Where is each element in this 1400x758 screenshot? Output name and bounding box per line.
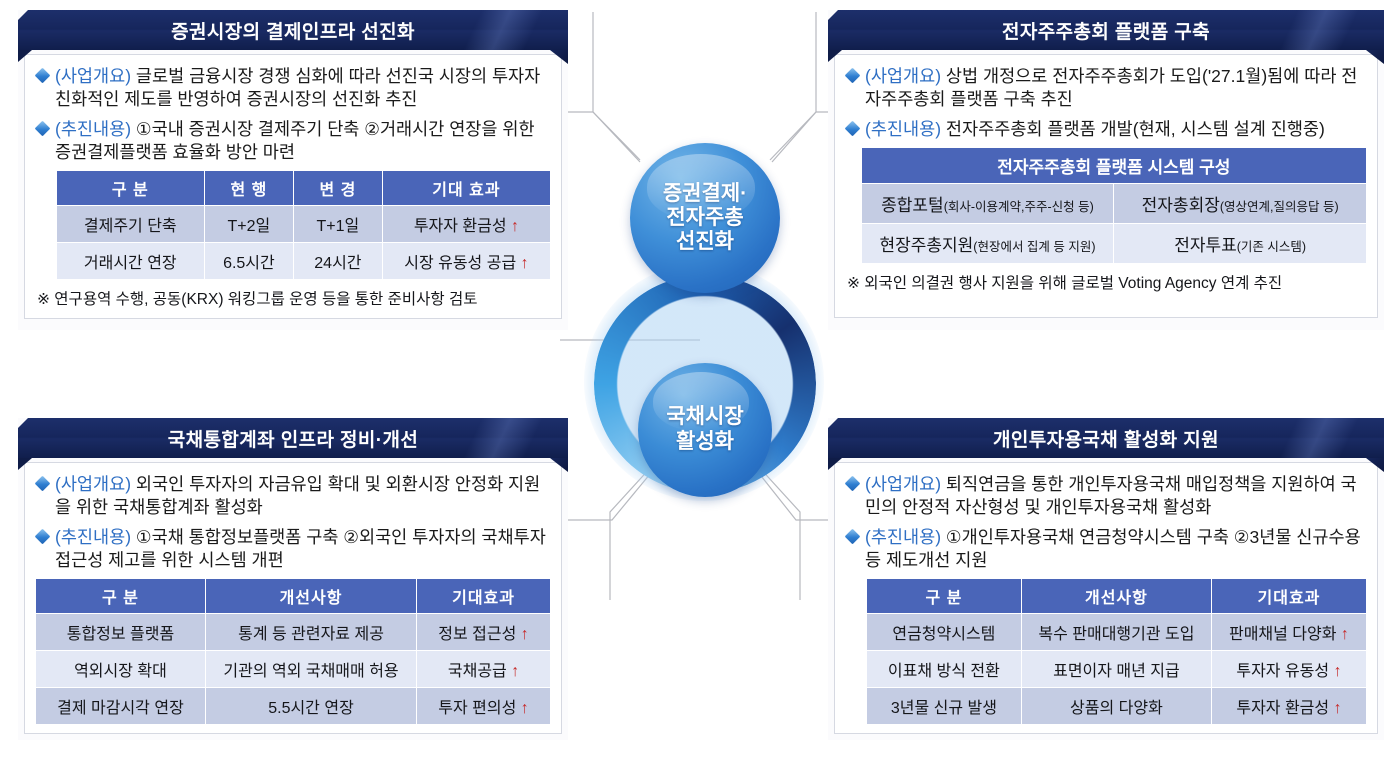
table-cell: 정보 접근성 ↑ <box>417 614 551 651</box>
table-row: 거래시간 연장 6.5시간 24시간 시장 유동성 공급 ↑ <box>56 243 550 280</box>
panel-government-bond-account: 국채통합계좌 인프라 정비·개선 (사업개요) 외국인 투자자의 자금유입 확대… <box>18 418 568 740</box>
table-cell: 현장주총지원(현장에서 집계 등 지원) <box>861 223 1114 263</box>
bullet-text: (추진내용) ①개인투자용국채 연금청약시스템 구축 ②3년물 신규수용 등 제… <box>865 526 1367 573</box>
table-cell: 종합포털(회사-이용계약,주주-신청 등) <box>861 183 1114 223</box>
bullet-label: (사업개요) <box>55 66 131 86</box>
up-arrow-icon: ↑ <box>1334 700 1342 717</box>
circle-line-2: 활성화 <box>676 430 734 455</box>
bullet-overview: (사업개요) 퇴직연금을 통한 개인투자용국채 매입정책을 지원하여 국민의 안… <box>845 473 1367 520</box>
cell-sub: (기존 시스템) <box>1237 240 1306 254</box>
table-col-header: 구 분 <box>866 579 1021 614</box>
table-cell: 결제 마감시각 연장 <box>36 688 206 725</box>
table-row: 종합포털(회사-이용계약,주주-신청 등) 전자총회장(영상연계,질의응답 등) <box>861 183 1366 223</box>
diamond-bullet-icon <box>845 68 861 84</box>
bullet-plan: (추진내용) ①개인투자용국채 연금청약시스템 구축 ②3년물 신규수용 등 제… <box>845 526 1367 573</box>
cell-main: 종합포털 <box>881 196 944 215</box>
panel-electronic-shareholder-meeting: 전자주주총회 플랫폼 구축 (사업개요) 상법 개정으로 전자주주총회가 도입(… <box>828 10 1384 330</box>
up-arrow-icon: ↑ <box>521 626 529 643</box>
table-cell: 투자자 환금성 ↑ <box>1211 688 1366 725</box>
diagram-canvas: 증권결제· 전자주총 선진화 국채시장 활성화 증권시장의 결제인프라 선진화 … <box>0 0 1400 758</box>
panel-header: 증권시장의 결제인프라 선진화 <box>18 10 568 50</box>
bullet-text: (사업개요) 외국인 투자자의 자금유입 확대 및 외환시장 안정화 지원을 위… <box>55 473 551 520</box>
table-col-header: 변 경 <box>293 171 382 206</box>
table-cell: 시장 유동성 공급 ↑ <box>382 243 550 280</box>
table-cell: 전자투표(기존 시스템) <box>1114 223 1367 263</box>
panel-note: ※ 연구용역 수행, 공동(KRX) 워킹그룹 운영 등을 통한 준비사항 검토 <box>35 286 551 310</box>
table-col-header: 현 행 <box>204 171 293 206</box>
bullet-text: (사업개요) 상법 개정으로 전자주주총회가 도입('27.1월)됨에 따라 전… <box>865 65 1367 112</box>
bullet-label: (사업개요) <box>865 474 941 494</box>
bullet-label: (사업개요) <box>55 474 131 494</box>
table-row: 연금청약시스템 복수 판매대행기관 도입 판매채널 다양화 ↑ <box>866 614 1366 651</box>
up-arrow-icon: ↑ <box>511 663 519 680</box>
table-col-header: 기대효과 <box>417 579 551 614</box>
circle-line-2: 전자주총 <box>666 206 743 230</box>
panel-title: 증권시장의 결제인프라 선진화 <box>171 17 415 44</box>
bullet-text: (추진내용) 전자주주총회 플랫폼 개발(현재, 시스템 설계 진행중) <box>865 118 1367 141</box>
table-cell: 표면이자 매년 지급 <box>1021 651 1211 688</box>
bullet-overview: (사업개요) 상법 개정으로 전자주주총회가 도입('27.1월)됨에 따라 전… <box>845 65 1367 112</box>
center-graphic: 증권결제· 전자주총 선진화 국채시장 활성화 <box>592 135 817 505</box>
circle-line-1: 국채시장 <box>666 405 743 430</box>
table-col-header: 개선사항 <box>1021 579 1211 614</box>
panel-title: 전자주주총회 플랫폼 구축 <box>1002 17 1210 44</box>
cell-sub: (현장에서 집계 등 지원) <box>973 240 1095 254</box>
bullet-label: (추진내용) <box>865 527 941 547</box>
bullet-text: (사업개요) 퇴직연금을 통한 개인투자용국채 매입정책을 지원하여 국민의 안… <box>865 473 1367 520</box>
table-cell: 거래시간 연장 <box>56 243 204 280</box>
panel-title: 국채통합계좌 인프라 정비·개선 <box>168 425 419 452</box>
table-row: 결제 마감시각 연장 5.5시간 연장 투자 편의성 ↑ <box>36 688 551 725</box>
table-col-header: 기대효과 <box>1211 579 1366 614</box>
table-row: 현장주총지원(현장에서 집계 등 지원) 전자투표(기존 시스템) <box>861 223 1366 263</box>
diamond-bullet-icon <box>845 476 861 492</box>
diamond-bullet-icon <box>845 120 861 136</box>
panel-individual-investor-bond: 개인투자용국채 활성화 지원 (사업개요) 퇴직연금을 통한 개인투자용국채 매… <box>828 418 1384 740</box>
table-cell: 투자 편의성 ↑ <box>417 688 551 725</box>
header-sheen <box>1234 10 1384 50</box>
table-cell: T+2일 <box>204 206 293 243</box>
diamond-bullet-icon <box>845 528 861 544</box>
panel-title: 개인투자용국채 활성화 지원 <box>993 425 1219 452</box>
table-cell: 통계 등 관련자료 제공 <box>205 614 416 651</box>
bullet-overview: (사업개요) 외국인 투자자의 자금유입 확대 및 외환시장 안정화 지원을 위… <box>35 473 551 520</box>
table-row: 통합정보 플랫폼 통계 등 관련자료 제공 정보 접근성 ↑ <box>36 614 551 651</box>
table-header-row: 구 분 개선사항 기대효과 <box>866 579 1366 614</box>
diamond-bullet-icon <box>35 528 51 544</box>
circle-line-1: 증권결제· <box>663 182 747 206</box>
cell-main: 전자총회장 <box>1142 196 1220 215</box>
table-col-header: 전자주주총회 플랫폼 시스템 구성 <box>861 147 1366 183</box>
bullet-overview: (사업개요) 글로벌 금융시장 경쟁 심화에 따라 선진국 시장의 투자자 친화… <box>35 65 551 112</box>
improvement-table: 구 분 개선사항 기대효과 통합정보 플랫폼 통계 등 관련자료 제공 정보 접… <box>35 578 551 725</box>
up-arrow-icon: ↑ <box>521 700 529 717</box>
circle-bond-market: 국채시장 활성화 <box>638 363 772 497</box>
table-col-header: 기대 효과 <box>382 171 550 206</box>
table-header-row: 구 분 개선사항 기대효과 <box>36 579 551 614</box>
diamond-bullet-icon <box>35 68 51 84</box>
table-header-row: 구 분 현 행 변 경 기대 효과 <box>56 171 550 206</box>
cell-sub: (회사-이용계약,주주-신청 등) <box>944 200 1094 214</box>
table-cell: 상품의 다양화 <box>1021 688 1211 725</box>
up-arrow-icon: ↑ <box>1341 626 1349 643</box>
panel-header: 전자주주총회 플랫폼 구축 <box>828 10 1384 50</box>
diamond-bullet-icon <box>35 120 51 136</box>
table-col-header: 구 분 <box>56 171 204 206</box>
cell-sub: (영상연계,질의응답 등) <box>1220 200 1339 214</box>
table-cell: 전자총회장(영상연계,질의응답 등) <box>1114 183 1367 223</box>
table-col-header: 구 분 <box>36 579 206 614</box>
bullet-plan: (추진내용) ①국내 증권시장 결제주기 단축 ②거래시간 연장을 위한 증권결… <box>35 118 551 165</box>
header-sheen <box>1234 418 1384 458</box>
panel-body: (사업개요) 퇴직연금을 통한 개인투자용국채 매입정책을 지원하여 국민의 안… <box>834 462 1378 734</box>
improvement-table: 구 분 개선사항 기대효과 연금청약시스템 복수 판매대행기관 도입 판매채널 … <box>866 578 1367 725</box>
up-arrow-icon: ↑ <box>521 255 529 272</box>
bullet-label: (추진내용) <box>865 119 941 139</box>
table-cell: 기관의 역외 국채매매 허용 <box>205 651 416 688</box>
bullet-plan: (추진내용) ①국채 통합정보플랫폼 구축 ②외국인 투자자의 국채투자 접근성… <box>35 526 551 573</box>
circle-line-3: 선진화 <box>676 230 734 254</box>
table-cell: 국채공급 ↑ <box>417 651 551 688</box>
bullet-plan: (추진내용) 전자주주총회 플랫폼 개발(현재, 시스템 설계 진행중) <box>845 118 1367 141</box>
panel-body: (사업개요) 글로벌 금융시장 경쟁 심화에 따라 선진국 시장의 투자자 친화… <box>24 54 562 319</box>
table-cell: 투자자 환금성 ↑ <box>382 206 550 243</box>
up-arrow-icon: ↑ <box>511 218 519 235</box>
table-cell: 투자자 유동성 ↑ <box>1211 651 1366 688</box>
table-cell: 판매채널 다양화 ↑ <box>1211 614 1366 651</box>
bullet-text: (추진내용) ①국채 통합정보플랫폼 구축 ②외국인 투자자의 국채투자 접근성… <box>55 526 551 573</box>
bullet-text: (사업개요) 글로벌 금융시장 경쟁 심화에 따라 선진국 시장의 투자자 친화… <box>55 65 551 112</box>
panel-body: (사업개요) 외국인 투자자의 자금유입 확대 및 외환시장 안정화 지원을 위… <box>24 462 562 734</box>
table-cell: 3년물 신규 발생 <box>866 688 1021 725</box>
panel-note: ※ 외국인 의결권 행사 지원을 위해 글로벌 Voting Agency 연계… <box>845 270 1367 294</box>
header-sheen <box>418 418 568 458</box>
bullet-label: (사업개요) <box>865 66 941 86</box>
table-cell: T+1일 <box>293 206 382 243</box>
cell-main: 전자투표 <box>1174 236 1237 255</box>
table-row: 결제주기 단축 T+2일 T+1일 투자자 환금성 ↑ <box>56 206 550 243</box>
table-cell: 결제주기 단축 <box>56 206 204 243</box>
table-cell: 6.5시간 <box>204 243 293 280</box>
table-row: 3년물 신규 발생 상품의 다양화 투자자 환금성 ↑ <box>866 688 1366 725</box>
bullet-label: (추진내용) <box>55 119 131 139</box>
panel-header: 국채통합계좌 인프라 정비·개선 <box>18 418 568 458</box>
system-composition-table: 전자주주총회 플랫폼 시스템 구성 종합포털(회사-이용계약,주주-신청 등) … <box>861 147 1367 264</box>
panel-securities-settlement: 증권시장의 결제인프라 선진화 (사업개요) 글로벌 금융시장 경쟁 심화에 따… <box>18 10 568 330</box>
up-arrow-icon: ↑ <box>1334 663 1342 680</box>
table-cell: 통합정보 플랫폼 <box>36 614 206 651</box>
table-header-row: 전자주주총회 플랫폼 시스템 구성 <box>861 147 1366 183</box>
diamond-bullet-icon <box>35 476 51 492</box>
table-cell: 역외시장 확대 <box>36 651 206 688</box>
bullet-text: (추진내용) ①국내 증권시장 결제주기 단축 ②거래시간 연장을 위한 증권결… <box>55 118 551 165</box>
table-cell: 24시간 <box>293 243 382 280</box>
header-sheen <box>418 10 568 50</box>
table-cell: 5.5시간 연장 <box>205 688 416 725</box>
table-row: 이표채 방식 전환 표면이자 매년 지급 투자자 유동성 ↑ <box>866 651 1366 688</box>
bullet-label: (추진내용) <box>55 527 131 547</box>
circle-securities-settlement: 증권결제· 전자주총 선진화 <box>630 143 780 293</box>
cell-main: 현장주총지원 <box>879 236 973 255</box>
panel-header: 개인투자용국채 활성화 지원 <box>828 418 1384 458</box>
table-cell: 복수 판매대행기관 도입 <box>1021 614 1211 651</box>
table-cell: 이표채 방식 전환 <box>866 651 1021 688</box>
table-cell: 연금청약시스템 <box>866 614 1021 651</box>
panel-body: (사업개요) 상법 개정으로 전자주주총회가 도입('27.1월)됨에 따라 전… <box>834 54 1378 318</box>
bullet-body: 전자주주총회 플랫폼 개발(현재, 시스템 설계 진행중) <box>941 119 1325 139</box>
table-row: 역외시장 확대 기관의 역외 국채매매 허용 국채공급 ↑ <box>36 651 551 688</box>
table-col-header: 개선사항 <box>205 579 416 614</box>
comparison-table: 구 분 현 행 변 경 기대 효과 결제주기 단축 T+2일 T+1일 투자자 … <box>56 170 551 280</box>
